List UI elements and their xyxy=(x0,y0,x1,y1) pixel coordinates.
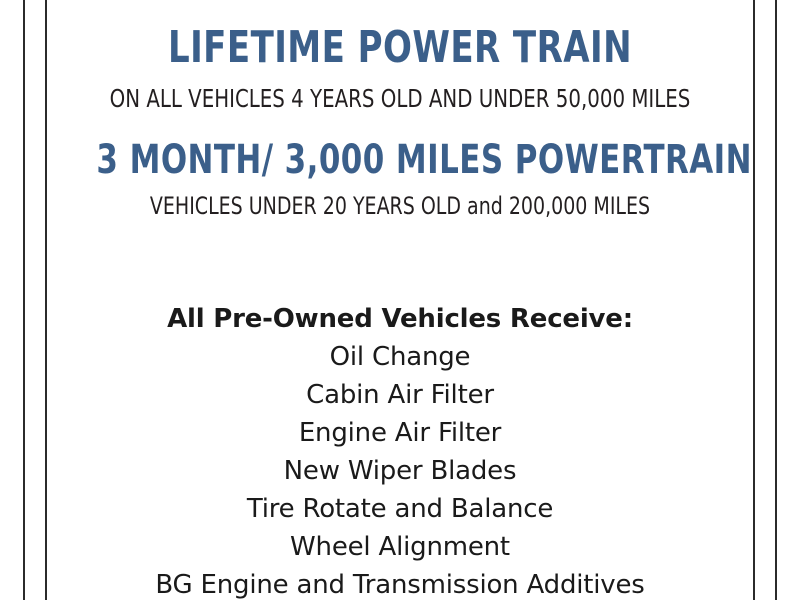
service-item: Wheel Alignment xyxy=(47,528,753,566)
service-item: BG Engine and Transmission Additives xyxy=(47,566,753,600)
promo-subtitle-lifetime-powertrain: ON ALL VEHICLES 4 YEARS OLD AND UNDER 50… xyxy=(89,86,710,111)
border-rule-left-outer xyxy=(23,0,25,600)
services-section: All Pre-Owned Vehicles Receive: Oil Chan… xyxy=(47,300,753,600)
promo-block-3month-powertrain: 3 MONTH/ 3,000 MILES POWERTRAIN VEHICLES… xyxy=(47,140,753,218)
flyer-content: LIFETIME POWER TRAIN ON ALL VEHICLES 4 Y… xyxy=(47,0,753,600)
service-item: Cabin Air Filter xyxy=(47,376,753,414)
promo-subtitle-3month-powertrain: VEHICLES UNDER 20 YEARS OLD and 200,000 … xyxy=(89,194,710,218)
warranty-flyer: LIFETIME POWER TRAIN ON ALL VEHICLES 4 Y… xyxy=(0,0,800,600)
service-item: Tire Rotate and Balance xyxy=(47,490,753,528)
promo-heading-3month-powertrain: 3 MONTH/ 3,000 MILES POWERTRAIN xyxy=(96,140,703,180)
services-list: Oil ChangeCabin Air FilterEngine Air Fil… xyxy=(47,338,753,600)
service-item: Engine Air Filter xyxy=(47,414,753,452)
services-title: All Pre-Owned Vehicles Receive: xyxy=(47,300,753,338)
border-rule-right-inner xyxy=(753,0,755,600)
promo-block-lifetime-powertrain: LIFETIME POWER TRAIN ON ALL VEHICLES 4 Y… xyxy=(47,26,753,111)
service-item: New Wiper Blades xyxy=(47,452,753,490)
border-rule-right-outer xyxy=(775,0,777,600)
promo-heading-lifetime-powertrain: LIFETIME POWER TRAIN xyxy=(96,26,703,70)
service-item: Oil Change xyxy=(47,338,753,376)
